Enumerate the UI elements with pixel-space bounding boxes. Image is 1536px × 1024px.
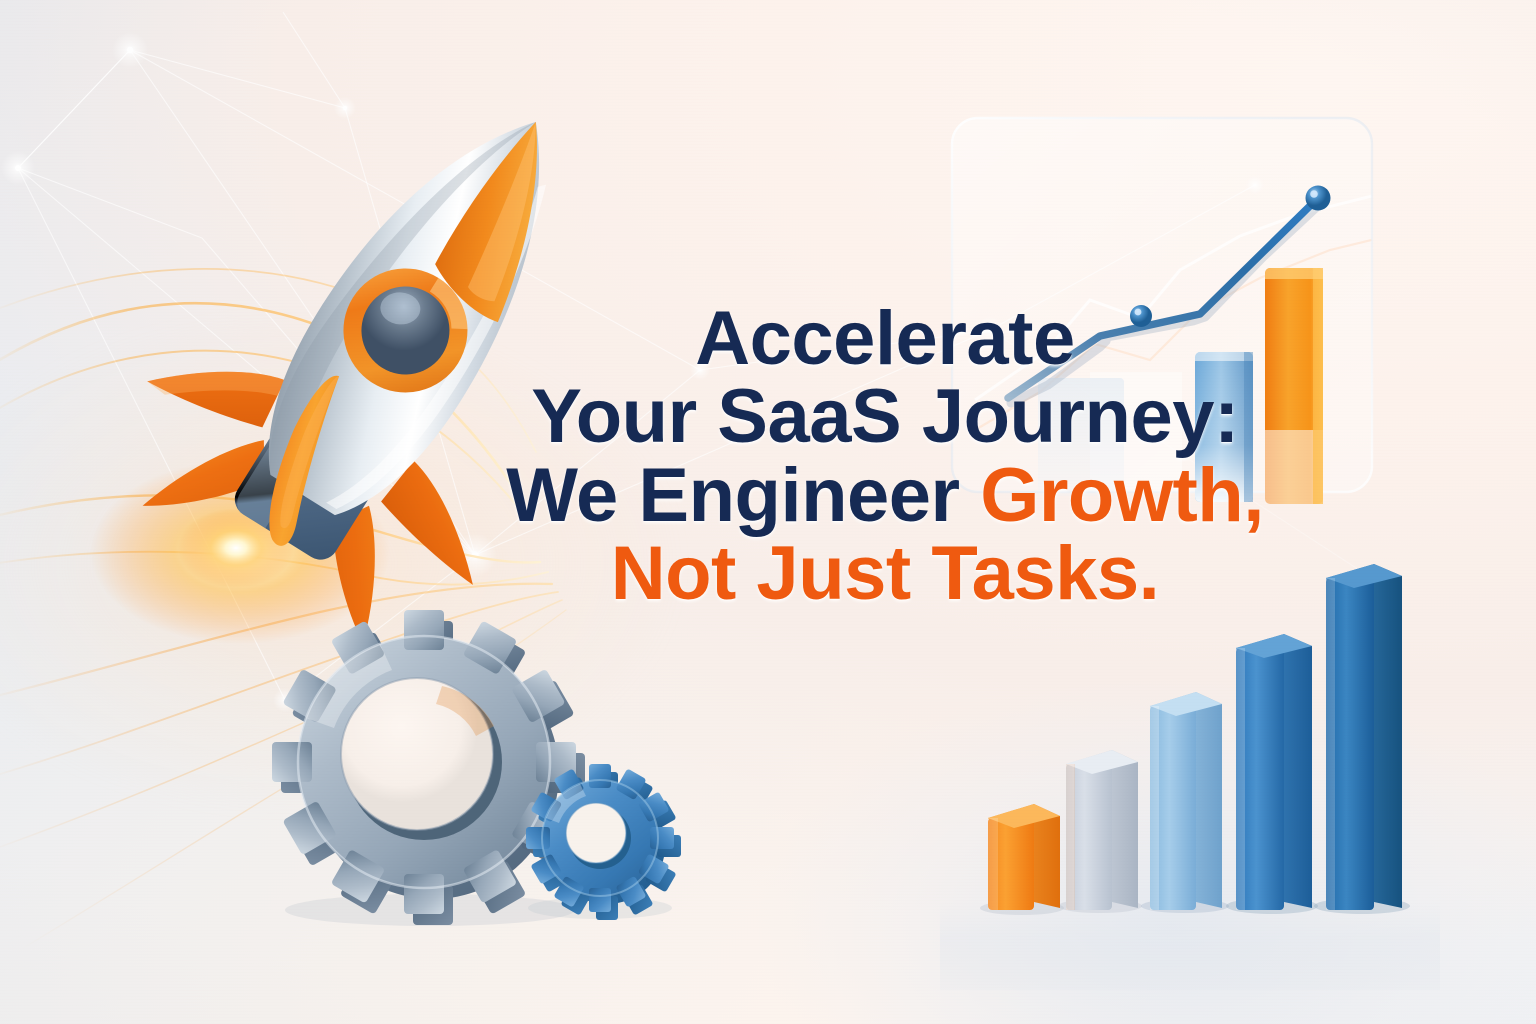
headline-line-3-navy: We Engineer [506,453,980,538]
headline-line-3-orange: Growth, [980,453,1264,538]
headline-line-4: Not Just Tasks. [470,535,1300,613]
banner-stage: Accelerate Your SaaS Journey: We Enginee… [0,0,1536,1024]
headline-block: Accelerate Your SaaS Journey: We Enginee… [470,300,1300,613]
headline-line-1: Accelerate [470,300,1300,378]
headline-line-3: We Engineer Growth, [470,457,1300,535]
headline-line-2: Your SaaS Journey: [470,378,1300,456]
